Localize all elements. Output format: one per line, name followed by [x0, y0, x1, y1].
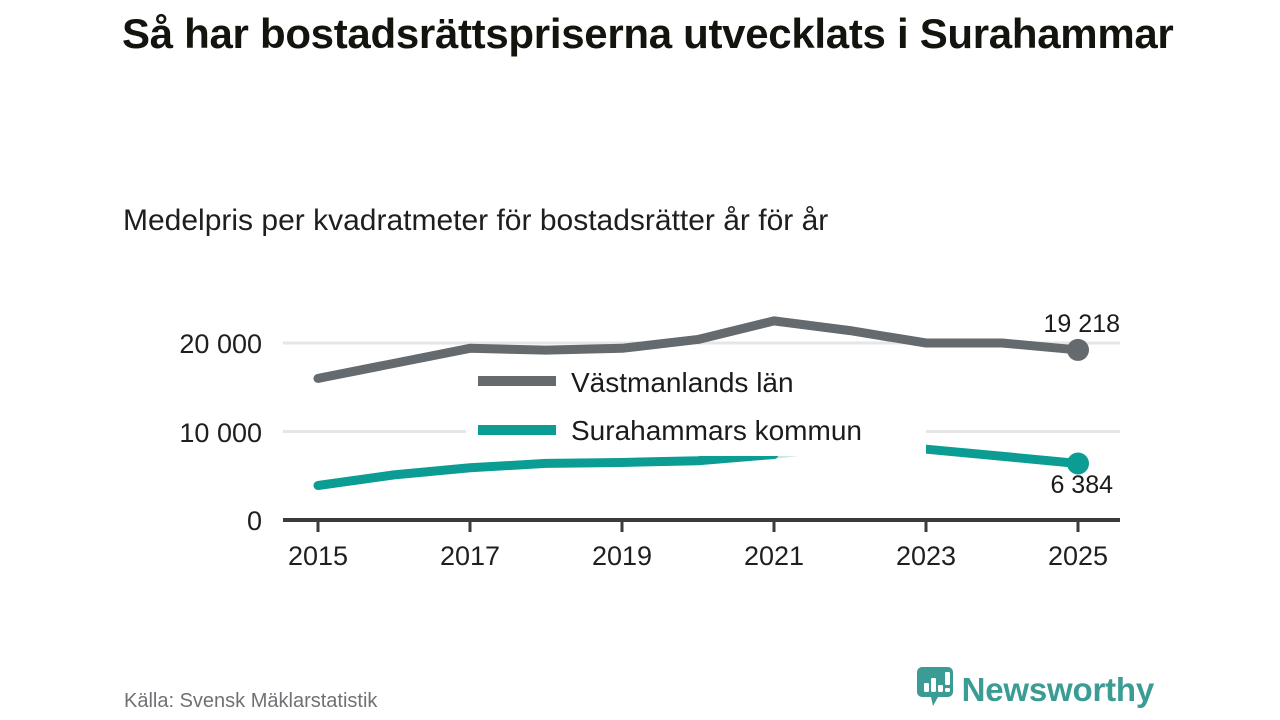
- end-marker-county: [1067, 339, 1089, 361]
- legend-label-municipality: Surahammars kommun: [571, 415, 862, 446]
- chart-container: 20 000 10 000 0 2015 2017 2019 2021 2023…: [0, 280, 1280, 590]
- legend: Västmanlands län Surahammars kommun: [466, 367, 926, 456]
- y-tick-20000: 20 000: [179, 329, 262, 359]
- legend-label-county: Västmanlands län: [571, 367, 794, 398]
- y-axis-labels: 20 000 10 000 0: [179, 329, 262, 536]
- x-tick-2023: 2023: [896, 541, 956, 571]
- line-chart: 20 000 10 000 0 2015 2017 2019 2021 2023…: [0, 280, 1280, 590]
- x-tick-2021: 2021: [744, 541, 804, 571]
- y-tick-0: 0: [247, 506, 262, 536]
- speech-bubble-bar-chart-icon: [917, 667, 953, 712]
- end-value-municipality: 6 384: [1050, 471, 1113, 499]
- x-tick-2015: 2015: [288, 541, 348, 571]
- x-axis-labels: 2015 2017 2019 2021 2023 2025: [288, 541, 1108, 571]
- source-note: Källa: Svensk Mäklarstatistik: [124, 690, 377, 713]
- page-title: Så har bostadsrättspriserna utvecklats i…: [122, 8, 1182, 61]
- chart-page: Så har bostadsrättspriserna utvecklats i…: [0, 0, 1280, 720]
- x-tick-2017: 2017: [440, 541, 500, 571]
- chart-subtitle: Medelpris per kvadratmeter för bostadsrä…: [123, 203, 1183, 239]
- x-tick-2019: 2019: [592, 541, 652, 571]
- x-tick-2025: 2025: [1048, 541, 1108, 571]
- value-labels: 19 218 6 384: [1044, 310, 1120, 499]
- x-axis: [283, 520, 1120, 532]
- logo-wordmark: Newsworthy: [962, 673, 1154, 706]
- end-value-county: 19 218: [1044, 310, 1120, 338]
- y-tick-10000: 10 000: [179, 418, 262, 448]
- newsworthy-logo: Newsworthy: [917, 667, 1154, 712]
